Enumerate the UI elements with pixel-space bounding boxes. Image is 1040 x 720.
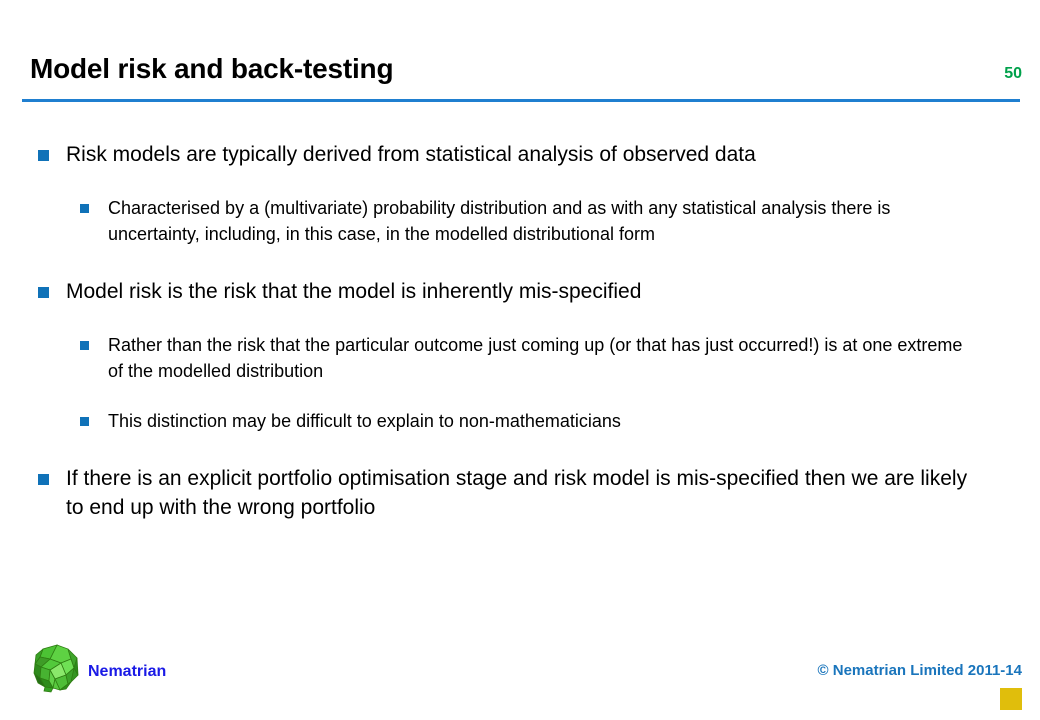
nematrian-polyhedron-logo-icon — [30, 642, 84, 696]
bullet-square-icon — [80, 204, 89, 213]
spacer — [0, 185, 1040, 195]
brand-name: Nematrian — [88, 662, 166, 682]
bullet-level2: Characterised by a (multivariate) probab… — [0, 195, 1040, 247]
slide-number: 50 — [1004, 64, 1022, 84]
bullet-level1: If there is an explicit portfolio optimi… — [0, 464, 1040, 522]
bullet-text: Characterised by a (multivariate) probab… — [108, 198, 890, 244]
bullet-text: Risk models are typically derived from s… — [66, 143, 756, 166]
bullet-text: This distinction may be difficult to exp… — [108, 411, 621, 431]
bullet-level2: This distinction may be difficult to exp… — [0, 408, 1040, 434]
spacer — [0, 398, 1040, 408]
bullet-square-icon — [38, 287, 49, 298]
bullet-square-icon — [38, 150, 49, 161]
bullet-text: Model risk is the risk that the model is… — [66, 280, 641, 303]
spacer — [0, 448, 1040, 464]
bullet-level1: Risk models are typically derived from s… — [0, 140, 1040, 169]
page-title: Model risk and back-testing — [30, 52, 393, 86]
bullet-square-icon — [80, 417, 89, 426]
bullet-square-icon — [38, 474, 49, 485]
title-row: Model risk and back-testing 50 — [0, 52, 1040, 96]
slide: Model risk and back-testing 50 Risk mode… — [0, 0, 1040, 720]
copyright-notice: © Nematrian Limited 2011-14 — [818, 661, 1022, 681]
title-underline-rule — [22, 99, 1020, 102]
slide-body: Risk models are typically derived from s… — [0, 140, 1040, 538]
bullet-level1: Model risk is the risk that the model is… — [0, 277, 1040, 306]
bullet-text: Rather than the risk that the particular… — [108, 335, 962, 381]
spacer — [0, 322, 1040, 332]
bullet-level2: Rather than the risk that the particular… — [0, 332, 1040, 384]
bullet-text: If there is an explicit portfolio optimi… — [66, 467, 967, 519]
gold-square-marker — [1000, 688, 1022, 710]
spacer — [0, 261, 1040, 277]
slide-footer: Nematrian © Nematrian Limited 2011-14 — [0, 630, 1040, 720]
bullet-square-icon — [80, 341, 89, 350]
